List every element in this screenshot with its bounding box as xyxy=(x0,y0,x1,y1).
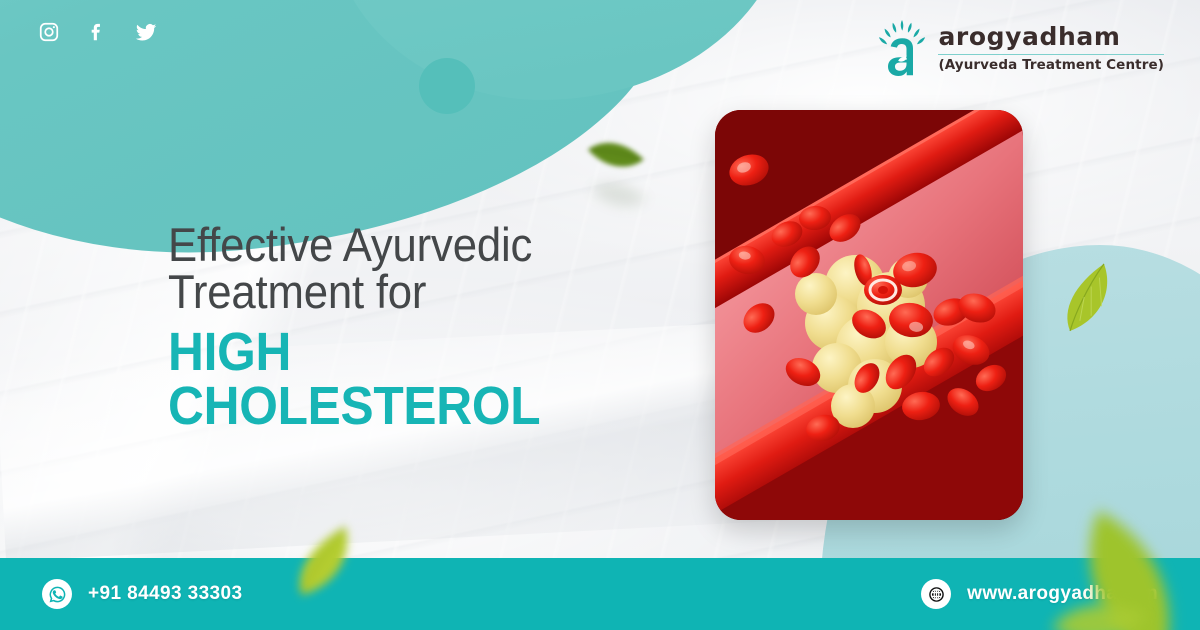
artery-cholesterol-plaque-illustration xyxy=(715,110,1023,520)
logo-divider xyxy=(938,54,1164,55)
contact-footer: +91 84493 33303 www.arogyadham.in xyxy=(0,558,1200,630)
globe-icon xyxy=(921,579,951,609)
social-links xyxy=(38,20,158,44)
instagram-icon[interactable] xyxy=(38,21,60,43)
whatsapp-icon xyxy=(42,579,72,609)
headline-block: Effective Ayurvedic Treatment for HIGH C… xyxy=(168,222,708,433)
promo-banner: arogyadham (Ayurveda Treatment Centre) E… xyxy=(0,0,1200,630)
headline-primary: Effective Ayurvedic Treatment for xyxy=(168,222,670,315)
brand-logo[interactable]: arogyadham (Ayurveda Treatment Centre) xyxy=(876,18,1164,78)
leaf-a-monogram-icon xyxy=(876,18,928,78)
phone-number: +91 84493 33303 xyxy=(88,583,242,605)
logo-tagline: (Ayurveda Treatment Centre) xyxy=(938,59,1164,73)
phone-contact[interactable]: +91 84493 33303 xyxy=(42,579,242,609)
headline-highlight: HIGH CHOLESTEROL xyxy=(168,325,665,433)
logo-text-block: arogyadham (Ayurveda Treatment Centre) xyxy=(938,24,1164,73)
logo-wordmark: arogyadham xyxy=(938,24,1164,49)
teal-dot xyxy=(419,58,475,114)
twitter-icon[interactable] xyxy=(134,20,158,44)
facebook-icon[interactable] xyxy=(86,21,108,43)
